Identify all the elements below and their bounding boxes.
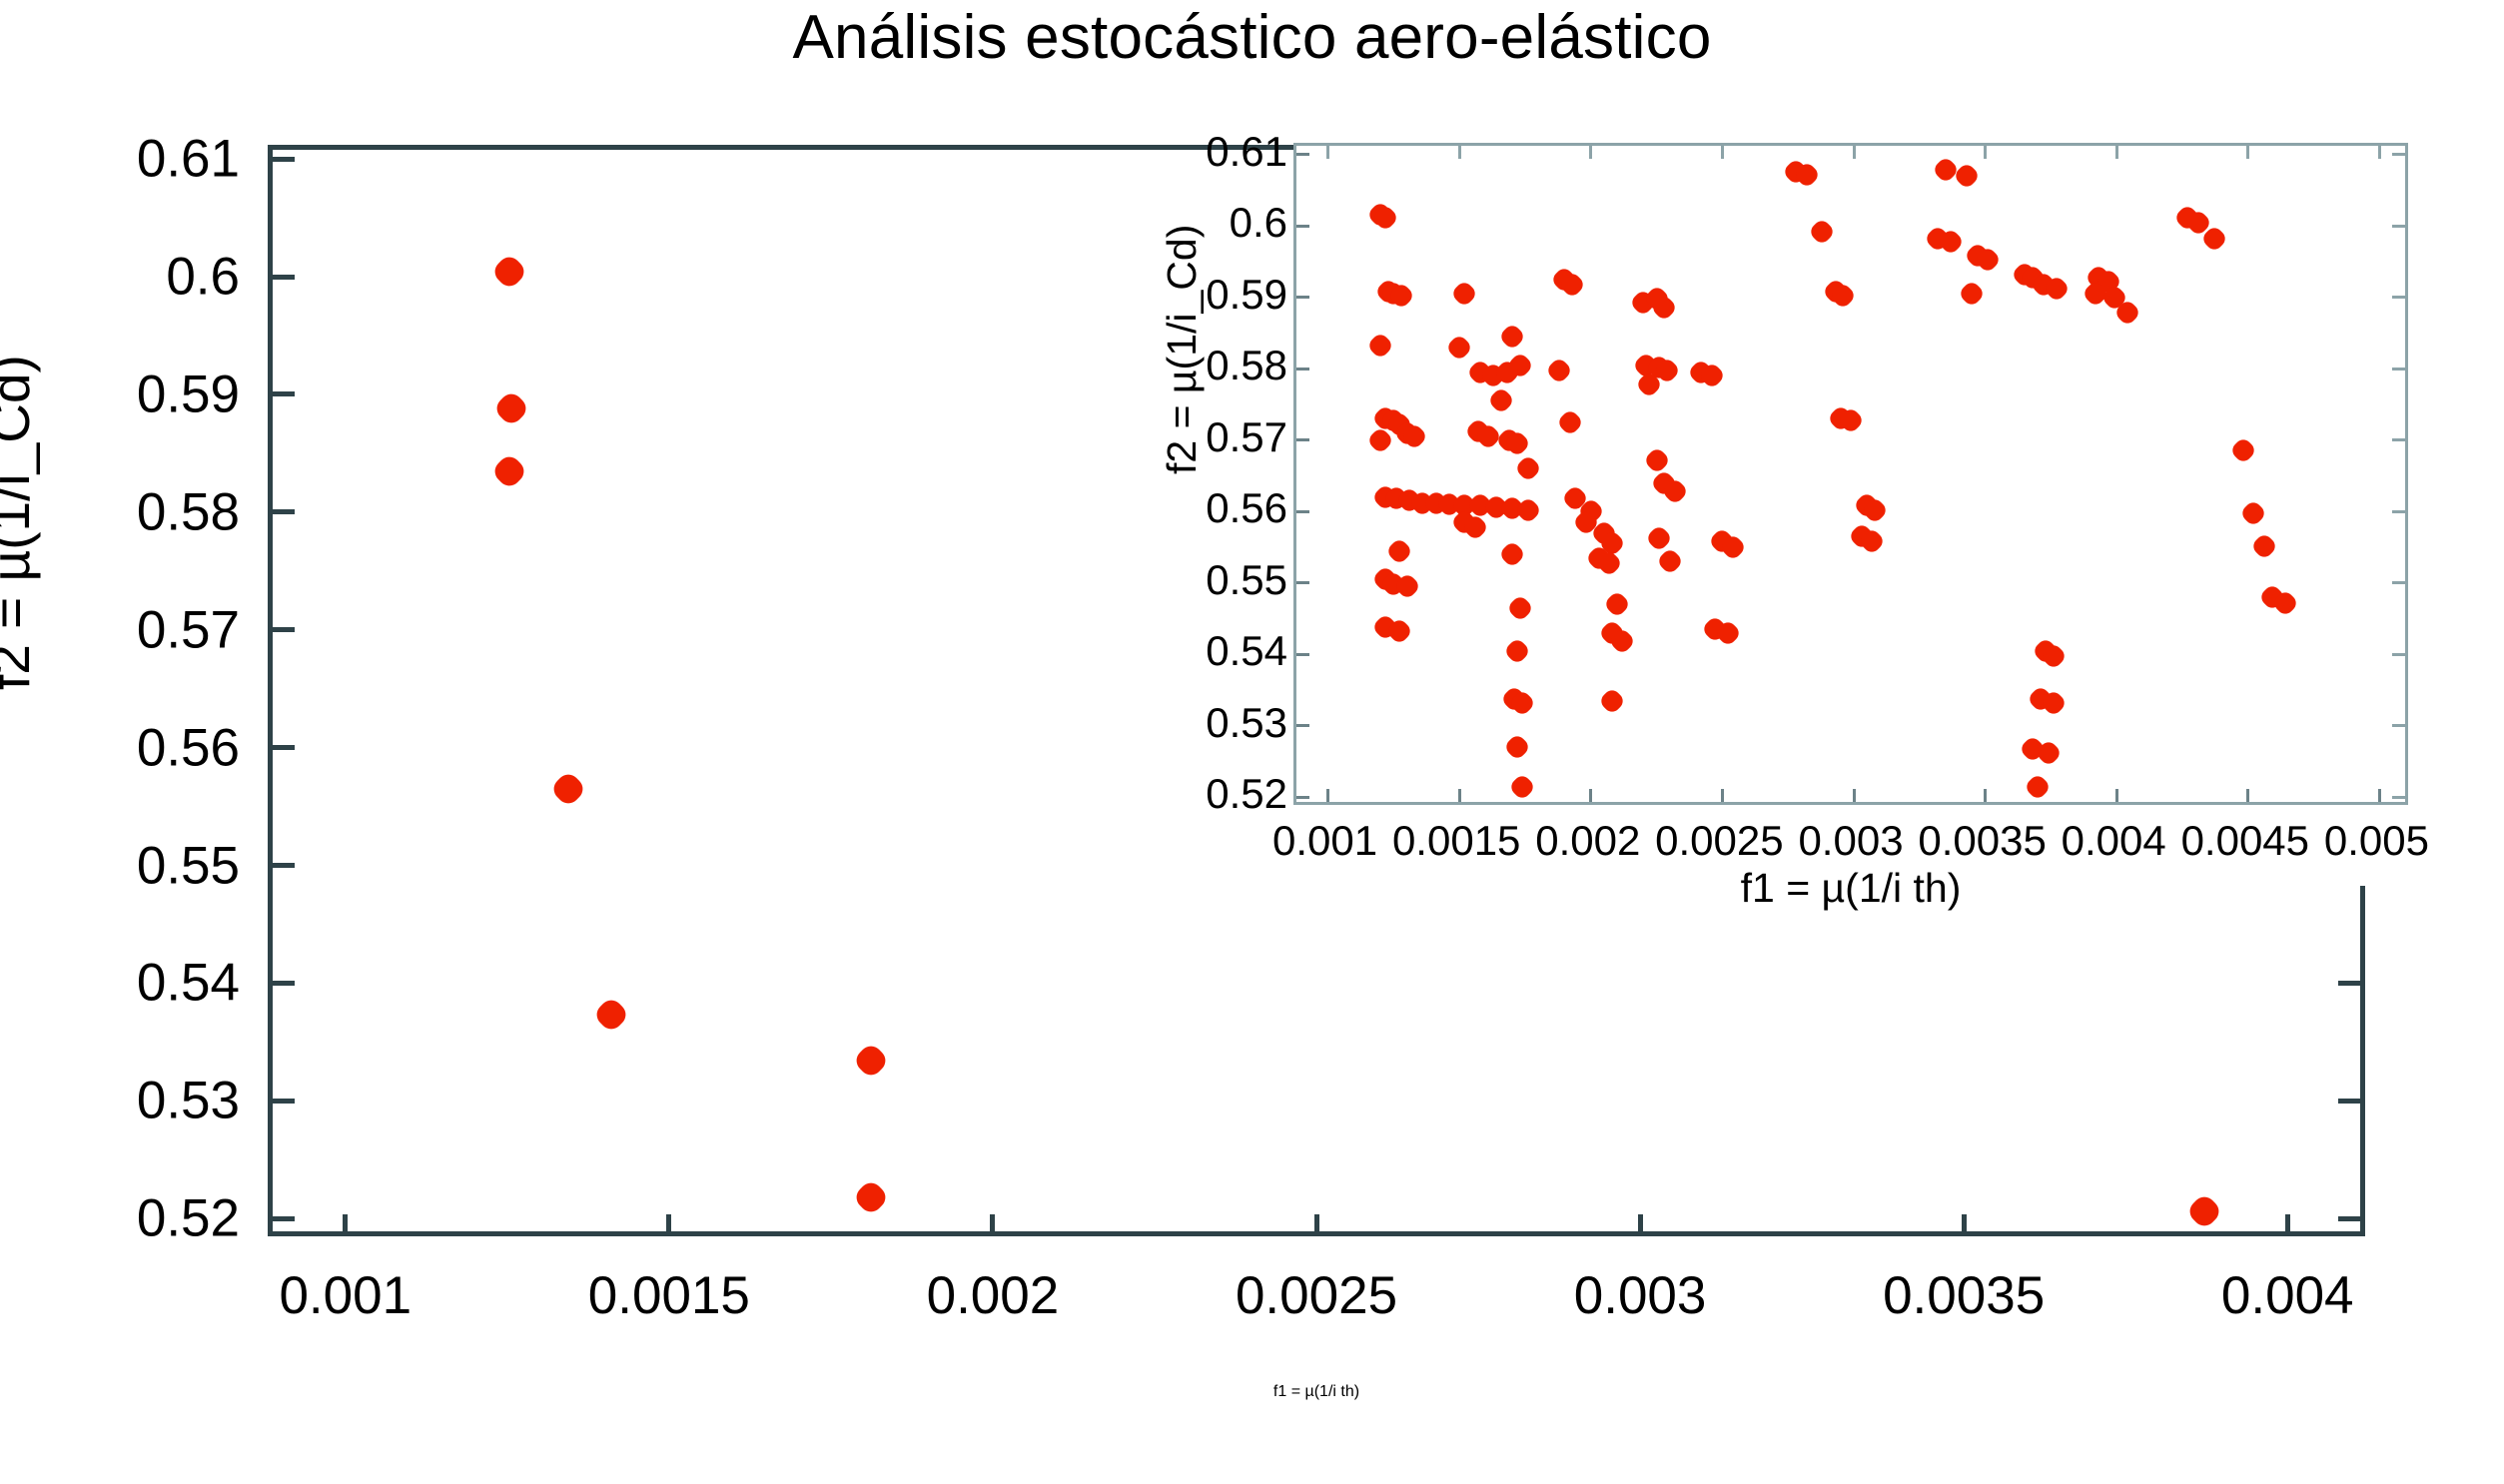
inset-x-tick-top (1984, 146, 1987, 159)
inset-y-tick-label: 0.54 (1206, 627, 1287, 675)
data-point (1479, 362, 1507, 389)
main-axis-spine-left (268, 145, 273, 1236)
data-point (1513, 496, 1541, 524)
data-point (1498, 323, 1526, 351)
data-point (1821, 278, 1849, 306)
data-point (2257, 583, 2285, 611)
data-point (1550, 266, 1578, 294)
inset-x-tick-top (1458, 146, 1461, 159)
main-x-tick-label: 0.0035 (1883, 1265, 2045, 1326)
data-point (1590, 518, 1618, 546)
main-y-axis-label: f2 = µ(1/i_Cd) (0, 355, 42, 690)
data-point (1392, 572, 1420, 600)
inset-y-tick (1296, 796, 1309, 799)
data-point (1629, 289, 1657, 317)
main-x-axis-label-wrap: f1 = µ(1/i th) (1273, 1383, 1359, 1401)
data-point (1379, 280, 1407, 308)
data-point (2032, 636, 2060, 664)
data-point (1974, 246, 2002, 274)
data-point (1598, 529, 1626, 557)
data-point (1461, 513, 1489, 541)
inset-x-tick-top (1853, 146, 1856, 159)
main-x-tick-label: 0.0025 (1236, 1265, 1397, 1326)
main-y-tick-label: 0.61 (137, 129, 240, 190)
data-point (1650, 468, 1678, 496)
main-y-tick-label: 0.57 (137, 599, 240, 660)
inset-y-tick-right (2392, 225, 2405, 228)
data-point (1700, 615, 1728, 643)
main-y-tick (273, 275, 295, 280)
inset-x-tick-label: 0.001 (1272, 817, 1377, 865)
inset-x-tick-label: 0.005 (2324, 817, 2429, 865)
inset-y-axis-label: f2 = µ(1/i_Cd) (1159, 225, 1206, 474)
main-y-tick (273, 627, 295, 632)
data-point (592, 996, 630, 1034)
inset-x-tick-label: 0.0045 (2181, 817, 2309, 865)
inset-y-tick (1296, 225, 1309, 228)
data-point (1366, 426, 1394, 454)
main-y-tick-label: 0.59 (137, 364, 240, 424)
inset-x-tick-top (2115, 146, 2118, 159)
main-axis-spine-bottom (268, 1231, 2365, 1236)
inset-y-tick-label: 0.55 (1206, 556, 1287, 604)
inset-x-tick (2378, 789, 2381, 802)
data-point (1503, 429, 1531, 457)
data-point (1508, 689, 1536, 717)
inset-x-tick-top (1589, 146, 1592, 159)
main-x-tick (1314, 1214, 1319, 1231)
data-point (1379, 570, 1407, 598)
data-point (1687, 359, 1715, 386)
data-point (1487, 386, 1515, 414)
data-point (2019, 734, 2047, 762)
inset-y-tick-label: 0.58 (1206, 342, 1287, 389)
data-point (2099, 283, 2127, 311)
inset-y-tick-right (2392, 296, 2405, 299)
inset-y-tick-right (2392, 153, 2405, 156)
inset-y-tick (1296, 438, 1309, 441)
data-point (1653, 356, 1681, 383)
data-point (1853, 491, 1881, 519)
inset-y-tick (1296, 653, 1309, 656)
main-x-tick-label: 0.003 (1574, 1265, 1707, 1326)
data-point (1450, 508, 1478, 536)
data-point (1577, 497, 1605, 525)
data-point (1435, 490, 1463, 518)
inset-y-tick-right (2392, 368, 2405, 371)
inset-y-tick (1296, 368, 1309, 371)
inset-x-tick (1853, 789, 1856, 802)
data-point (1466, 491, 1494, 519)
main-y-tick-right (2338, 1216, 2360, 1221)
data-point (1603, 590, 1631, 618)
data-point (1719, 533, 1747, 561)
data-point (1829, 282, 1857, 310)
inset-x-tick-label: 0.003 (1798, 817, 1903, 865)
main-y-tick-right (2338, 981, 2360, 986)
data-point (1371, 613, 1399, 641)
main-x-tick (343, 1214, 348, 1231)
data-point (1708, 527, 1736, 555)
inset-y-tick-label: 0.57 (1206, 413, 1287, 461)
data-point (1656, 547, 1684, 575)
main-y-tick-label: 0.54 (137, 953, 240, 1014)
data-point (492, 389, 530, 427)
inset-y-tick-right (2392, 724, 2405, 727)
data-point (2027, 684, 2055, 712)
inset-y-tick-label: 0.56 (1206, 484, 1287, 532)
data-point (1595, 549, 1623, 577)
data-point (1503, 733, 1531, 761)
data-point (1371, 565, 1399, 593)
inset-x-tick-top (2246, 146, 2249, 159)
data-point (1808, 218, 1836, 246)
inset-y-tick-right (2392, 438, 2405, 441)
main-y-tick (273, 509, 295, 514)
data-point (1508, 772, 1536, 800)
data-point (1450, 280, 1478, 308)
data-point (1371, 203, 1399, 231)
data-point (1445, 334, 1473, 362)
main-y-tick (273, 863, 295, 868)
data-point (490, 452, 528, 490)
inset-y-tick-right (2392, 510, 2405, 513)
inset-y-tick (1296, 296, 1309, 299)
main-y-tick (273, 745, 295, 750)
data-point (1498, 540, 1526, 568)
data-point (1503, 636, 1531, 664)
data-point (549, 770, 587, 808)
inset-y-tick (1296, 153, 1309, 156)
data-point (1498, 494, 1526, 522)
data-point (2271, 589, 2299, 617)
main-x-tick (1962, 1214, 1967, 1231)
data-point (2199, 225, 2227, 253)
data-point (1635, 371, 1663, 398)
figure-canvas: Análisis estocástico aero-elástico 0.520… (0, 0, 2504, 1484)
data-point (1400, 422, 1428, 450)
inset-x-tick (2246, 789, 2249, 802)
data-point (1379, 405, 1407, 433)
data-point (1495, 426, 1523, 454)
inset-x-tick-top (1326, 146, 1329, 159)
data-point (1545, 356, 1573, 383)
main-y-tick-label: 0.6 (166, 247, 240, 308)
data-point (1642, 285, 1670, 313)
data-point (1645, 524, 1673, 552)
data-point (1632, 351, 1660, 378)
main-axis-spine-right (2360, 886, 2365, 1236)
data-point (1598, 619, 1626, 647)
data-point (1506, 351, 1534, 378)
data-point (2040, 689, 2068, 717)
data-point (2035, 739, 2063, 767)
data-point (1837, 405, 1865, 433)
data-point (1474, 422, 1502, 450)
data-point (1513, 454, 1541, 482)
data-point (1366, 332, 1394, 360)
main-y-tick (273, 1099, 295, 1104)
data-point (852, 1178, 890, 1216)
main-y-tick-right (2338, 1099, 2360, 1104)
data-point (1466, 359, 1494, 386)
inset-y-tick-label: 0.6 (1230, 199, 1287, 247)
data-point (2094, 268, 2122, 296)
data-point (1395, 486, 1423, 514)
main-x-tick (990, 1214, 995, 1231)
data-point (1964, 242, 1992, 270)
data-point (1608, 627, 1636, 655)
inset-y-tick-right (2392, 581, 2405, 584)
data-point (1506, 594, 1534, 622)
data-point (1953, 162, 1981, 190)
data-point (1392, 418, 1420, 446)
data-point (1421, 488, 1449, 516)
data-point (1384, 617, 1412, 645)
data-point (1558, 271, 1586, 299)
data-point (2184, 208, 2212, 236)
main-x-tick (666, 1214, 671, 1231)
data-point (2024, 772, 2052, 800)
data-point (1642, 446, 1670, 474)
main-y-tick (273, 157, 295, 162)
inset-y-tick-right (2392, 796, 2405, 799)
main-x-tick-label: 0.004 (2221, 1265, 2354, 1326)
inset-x-tick (1984, 789, 1987, 802)
data-point (1861, 496, 1889, 524)
data-point (1782, 158, 1810, 186)
data-point (852, 1042, 890, 1080)
data-point (1827, 404, 1855, 432)
data-point (2040, 642, 2068, 670)
data-point (2249, 531, 2277, 559)
inset-x-tick-label: 0.0035 (1918, 817, 2046, 865)
data-point (1387, 282, 1415, 310)
data-point (2239, 498, 2267, 526)
data-point (1556, 408, 1584, 436)
data-point (1366, 201, 1394, 229)
figure-title: Análisis estocástico aero-elástico (0, 2, 2504, 73)
data-point (1698, 362, 1726, 389)
data-point (2029, 271, 2057, 299)
inset-x-tick-label: 0.0025 (1655, 817, 1783, 865)
main-y-tick-label: 0.52 (137, 1188, 240, 1249)
data-point (2085, 263, 2112, 291)
main-y-tick (273, 981, 295, 986)
main-x-axis-label: f1 = µ(1/i th) (1273, 1383, 1359, 1400)
inset-plot-axes (1293, 143, 2408, 805)
data-point (1937, 228, 1965, 256)
main-y-tick (273, 1216, 295, 1221)
main-x-tick-label: 0.001 (279, 1265, 412, 1326)
data-point (1384, 536, 1412, 564)
inset-y-tick (1296, 724, 1309, 727)
inset-y-tick (1296, 581, 1309, 584)
data-point (1848, 522, 1876, 550)
data-point (1714, 619, 1742, 647)
data-point (1645, 354, 1673, 381)
data-point (1482, 493, 1510, 521)
inset-y-tick-label: 0.59 (1206, 271, 1287, 319)
data-point (1500, 684, 1528, 712)
data-point (1384, 410, 1412, 438)
data-point (2173, 203, 2201, 231)
inset-x-tick-top (2378, 146, 2381, 159)
data-point (1932, 156, 1960, 184)
data-point (1571, 508, 1599, 536)
inset-x-tick (1721, 789, 1724, 802)
data-point (1371, 483, 1399, 511)
data-point (2011, 261, 2039, 289)
data-point (1792, 160, 1820, 188)
inset-y-tick-right (2392, 653, 2405, 656)
data-point (2228, 436, 2256, 464)
data-point (1463, 417, 1491, 445)
data-point (1374, 278, 1402, 306)
main-y-tick-label: 0.53 (137, 1071, 240, 1131)
data-point (1408, 488, 1436, 516)
inset-y-tick-label: 0.61 (1206, 128, 1287, 176)
main-y-tick-label: 0.56 (137, 717, 240, 778)
data-point (1661, 477, 1689, 505)
inset-y-tick-label: 0.53 (1206, 699, 1287, 747)
data-point (1492, 359, 1520, 386)
data-point (1958, 280, 1986, 308)
inset-y-tick-label: 0.52 (1206, 770, 1287, 818)
data-point (1561, 484, 1589, 512)
data-point (2043, 275, 2071, 303)
inset-y-tick (1296, 510, 1309, 513)
inset-x-tick-top (1721, 146, 1724, 159)
main-x-tick (2285, 1214, 2290, 1231)
data-point (1382, 484, 1410, 512)
data-point (2019, 263, 2047, 291)
inset-x-tick (2115, 789, 2118, 802)
main-y-tick (273, 391, 295, 396)
main-x-tick-label: 0.0015 (588, 1265, 750, 1326)
main-x-tick-label: 0.002 (927, 1265, 1060, 1326)
data-point (1598, 687, 1626, 715)
data-point (2113, 299, 2141, 327)
data-point (490, 253, 528, 291)
inset-x-tick (1458, 789, 1461, 802)
main-x-tick (1638, 1214, 1643, 1231)
main-y-tick-label: 0.58 (137, 481, 240, 542)
data-point (1924, 225, 1952, 253)
inset-x-tick-label: 0.002 (1535, 817, 1640, 865)
main-y-tick-label: 0.55 (137, 835, 240, 896)
inset-x-tick (1589, 789, 1592, 802)
data-point (2185, 1192, 2223, 1230)
data-point (1650, 294, 1678, 322)
data-point (1450, 491, 1478, 519)
inset-x-tick-label: 0.0015 (1392, 817, 1520, 865)
inset-x-axis-label: f1 = µ(1/i th) (1741, 865, 1962, 912)
data-point (1585, 544, 1613, 572)
inset-x-tick-label: 0.004 (2062, 817, 2166, 865)
data-point (1371, 404, 1399, 432)
data-point (1858, 527, 1886, 555)
data-point (2082, 280, 2109, 308)
inset-x-tick (1326, 789, 1329, 802)
